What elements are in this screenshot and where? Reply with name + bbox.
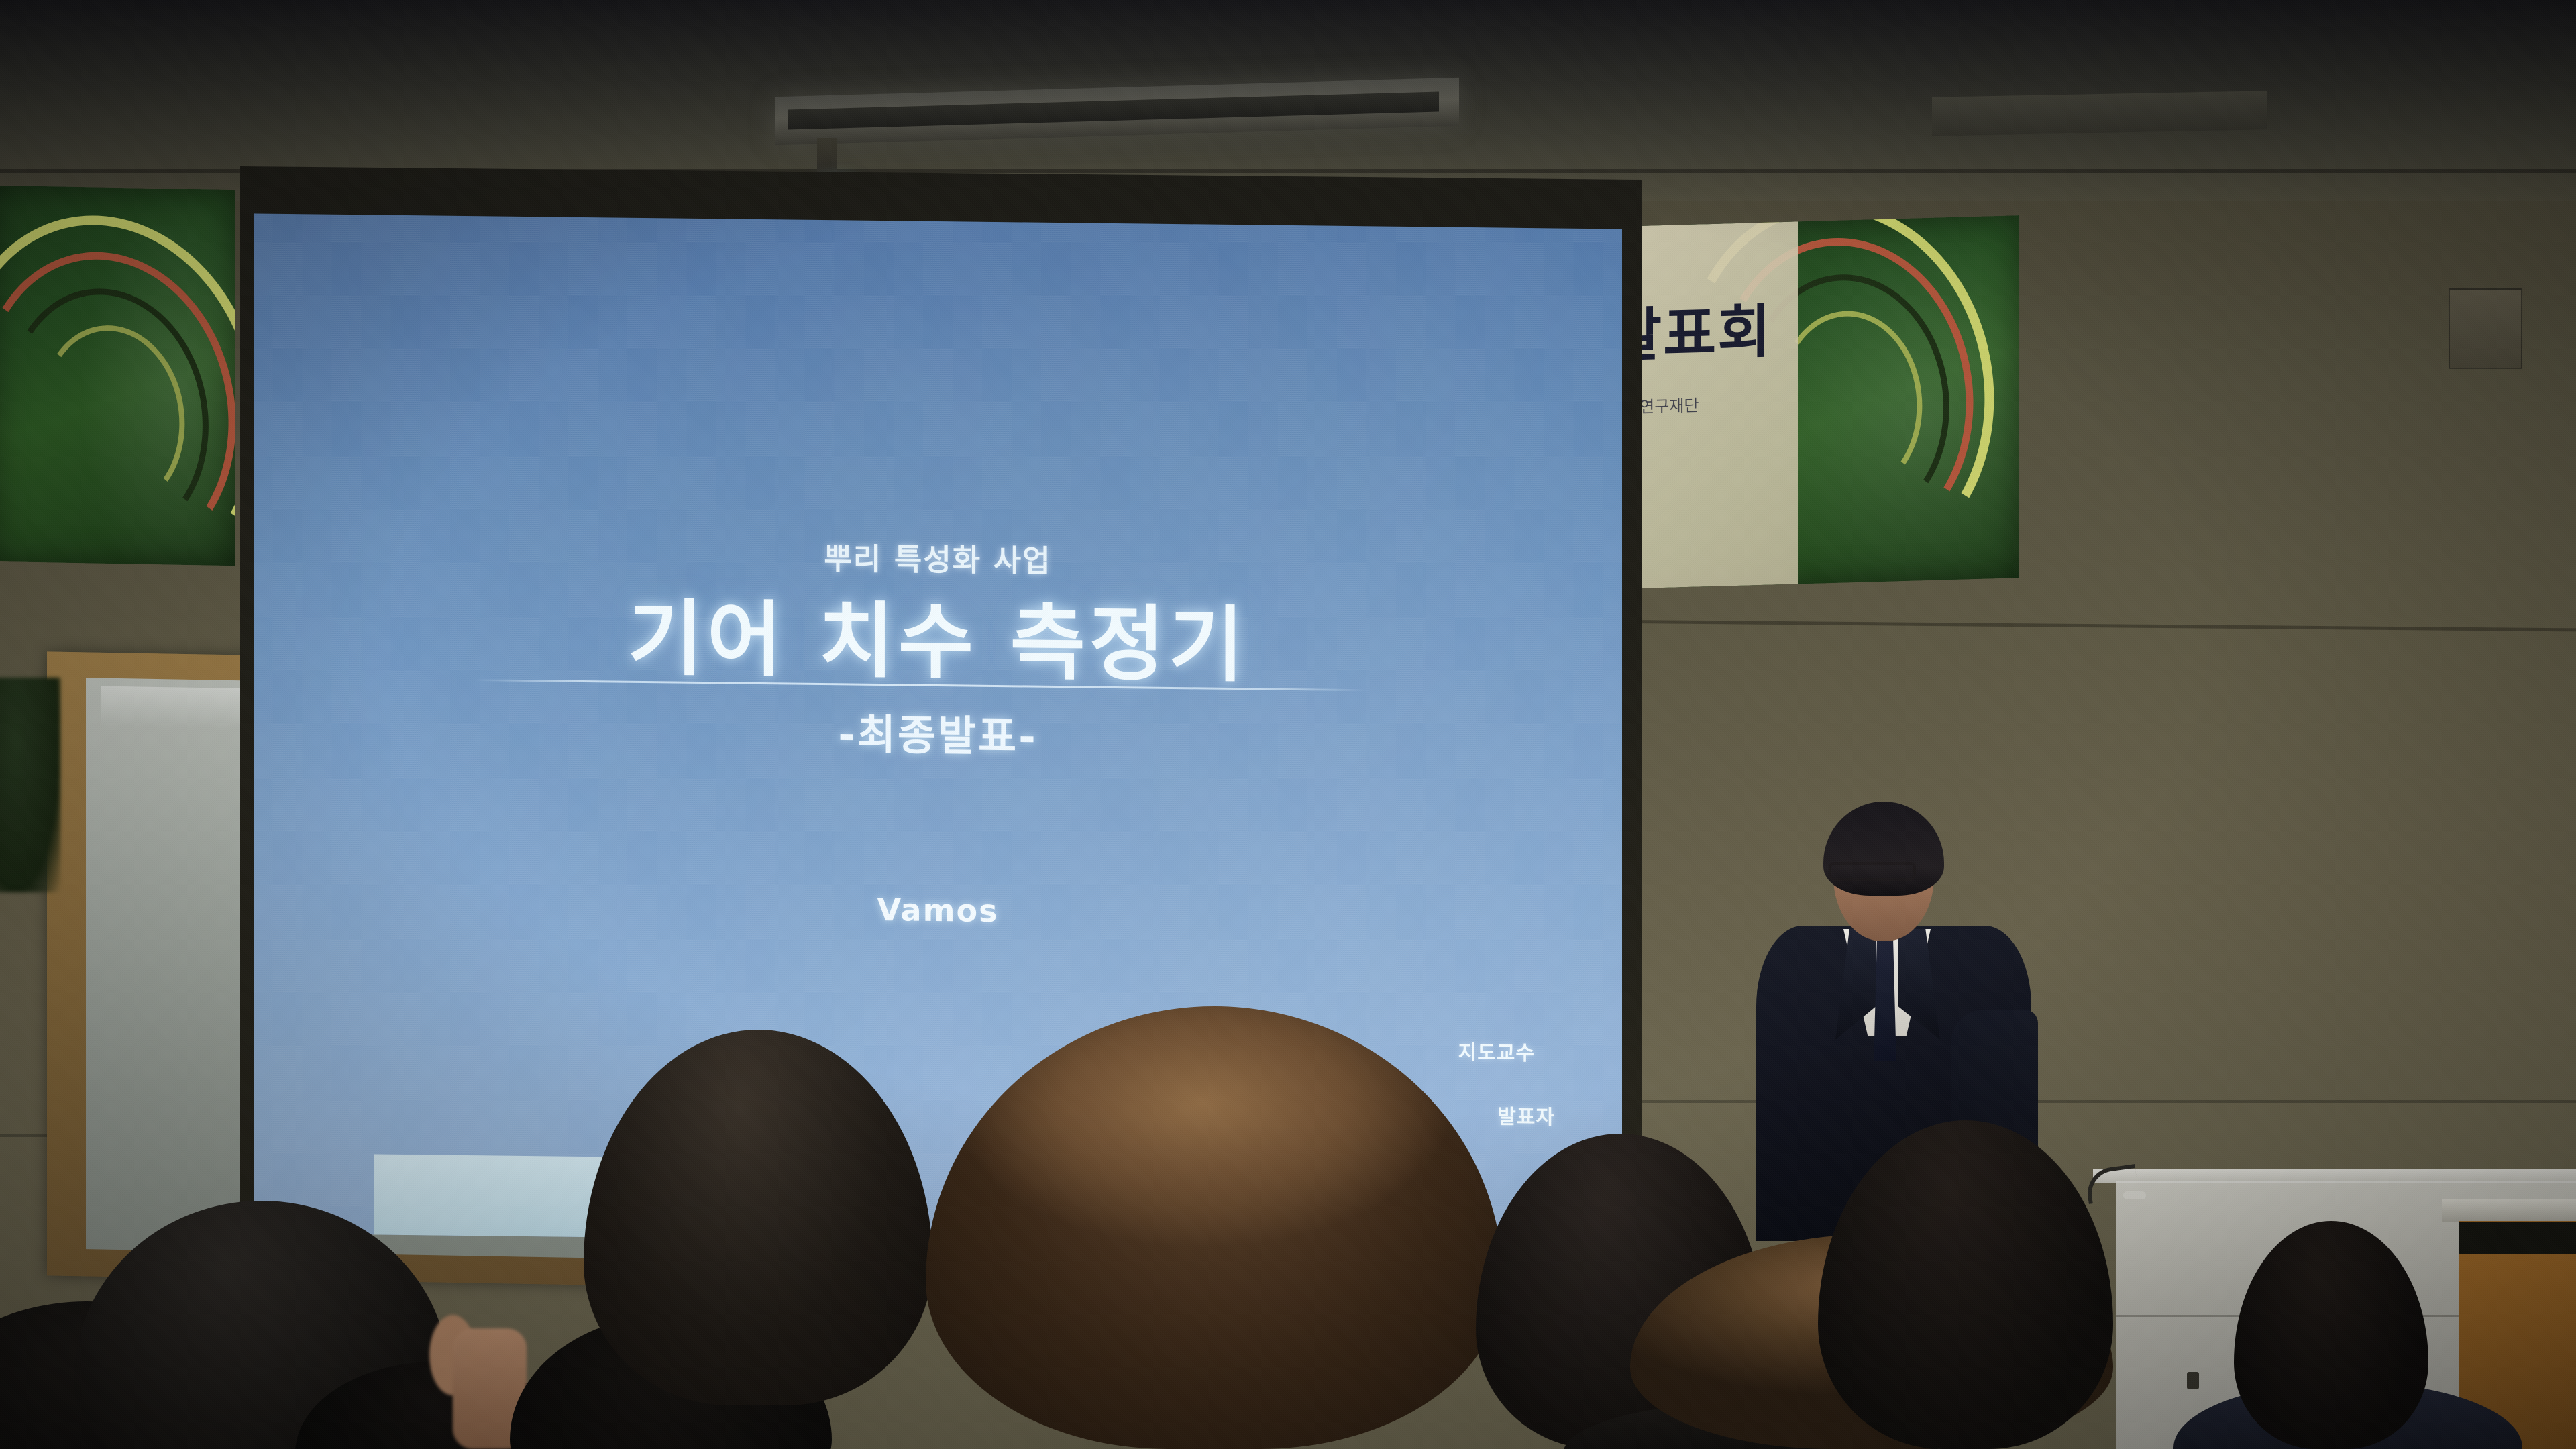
banner-left xyxy=(0,186,235,566)
podium-front-panel xyxy=(2459,1222,2576,1254)
wall-seam-lower xyxy=(1597,1100,2576,1103)
slide-subtitle: -최종발표- xyxy=(254,694,1622,769)
slide-credit-presenter: 발표자 xyxy=(1497,1099,1555,1130)
cabinet-handle xyxy=(2187,1372,2199,1389)
podium-top-surface xyxy=(2442,1199,2576,1222)
slide-team-name: Vamos xyxy=(254,884,1622,936)
banner-right: 발표회 한국연구재단 xyxy=(1597,215,2019,590)
lecture-hall-scene: 발표회 한국연구재단 뿌리 특성화 사업 기어 치수 측정기 -최종발표- Va… xyxy=(0,0,2576,1449)
ceiling-vent-right xyxy=(1932,91,2267,136)
microphone-head-icon xyxy=(2123,1191,2146,1199)
wall-vent-plate xyxy=(2449,288,2522,369)
potted-plant xyxy=(0,678,60,892)
presenter-glasses-icon xyxy=(1829,862,1916,881)
slide-credit-advisor: 지도교수 xyxy=(1458,1036,1535,1066)
presenter-hair xyxy=(1823,802,1944,896)
slide-title: 기어 치수 측정기 xyxy=(254,568,1622,702)
